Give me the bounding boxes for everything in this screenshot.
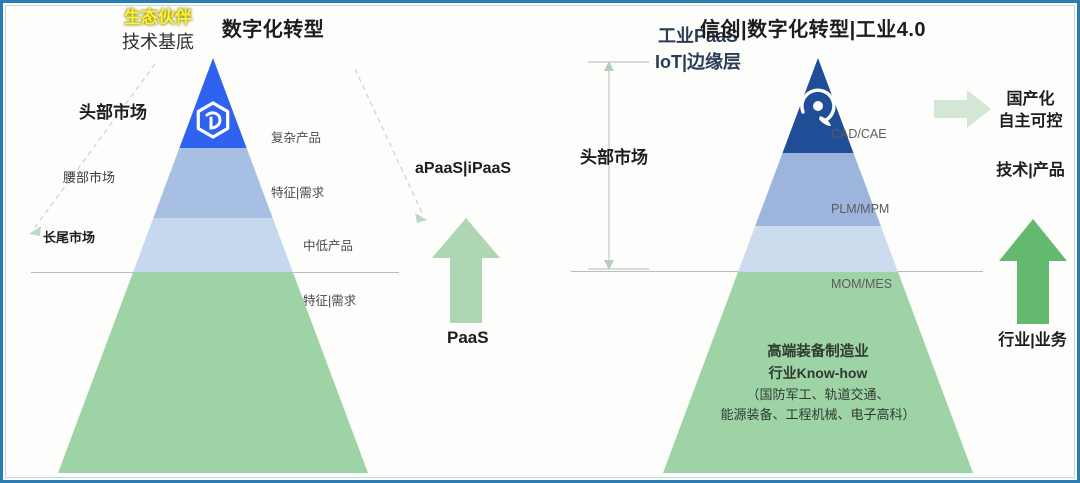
left-apaas-label: aPaaS|iPaaS (415, 158, 511, 180)
right-tech-item-cad-cae: CAD/CAE (831, 122, 892, 147)
right-localization-line1: 国产化 (983, 89, 1078, 111)
right-base-line2: 行业Know-how (663, 363, 973, 385)
left-paas-arrow-icon (428, 218, 504, 323)
left-feature-midlow-line2: 特征|需求 (303, 292, 356, 310)
slide-frame: 数字化转型 头部市场 腰部市场 长尾市场 (0, 0, 1080, 483)
right-tech-list: CAD/CAE PLM/MPM MOM/MES (831, 72, 892, 347)
right-tech-item-mom-mes: MOM/MES (831, 272, 892, 297)
right-tech-item-plm-mpm: PLM/MPM (831, 197, 892, 222)
left-paas-label: PaaS (447, 327, 489, 350)
left-panel: 数字化转型 头部市场 腰部市场 长尾市场 (3, 3, 543, 483)
right-base-text-block: 高端装备制造业 行业Know-how （国防军工、轨道交通、 能源装备、工程机械… (663, 341, 973, 425)
right-industry-business-label: 行业|业务 (985, 330, 1080, 352)
left-panel-title: 数字化转型 (3, 13, 543, 42)
right-localization-line2: 自主可控 (983, 111, 1078, 133)
left-pyramid-layer-upper-mid (153, 148, 272, 218)
right-base-line1: 高端装备制造业 (663, 341, 973, 363)
left-feature-midlow-line1: 中低产品 (303, 237, 356, 255)
left-feature-complex-line2: 特征|需求 (271, 184, 324, 202)
right-localization-label: 国产化 自主可控 (983, 89, 1078, 134)
right-industry-arrow-icon (995, 219, 1071, 324)
right-base-line3: （国防军工、轨道交通、 (663, 385, 973, 405)
right-panel: 信创|数字化转型|工业4.0 头部市场 (543, 3, 1080, 483)
right-head-market-label: 头部市场 (580, 147, 648, 170)
left-feature-complex-line1: 复杂产品 (271, 129, 324, 147)
right-base-line4: 能源装备、工程机械、电子高科） (663, 405, 973, 425)
right-tech-product-label: 技术|产品 (983, 160, 1078, 182)
left-pyramid-layer-lower-mid (133, 218, 293, 272)
left-product-guide-arrow (343, 63, 443, 228)
right-panel-title: 信创|数字化转型|工业4.0 (543, 13, 1080, 42)
